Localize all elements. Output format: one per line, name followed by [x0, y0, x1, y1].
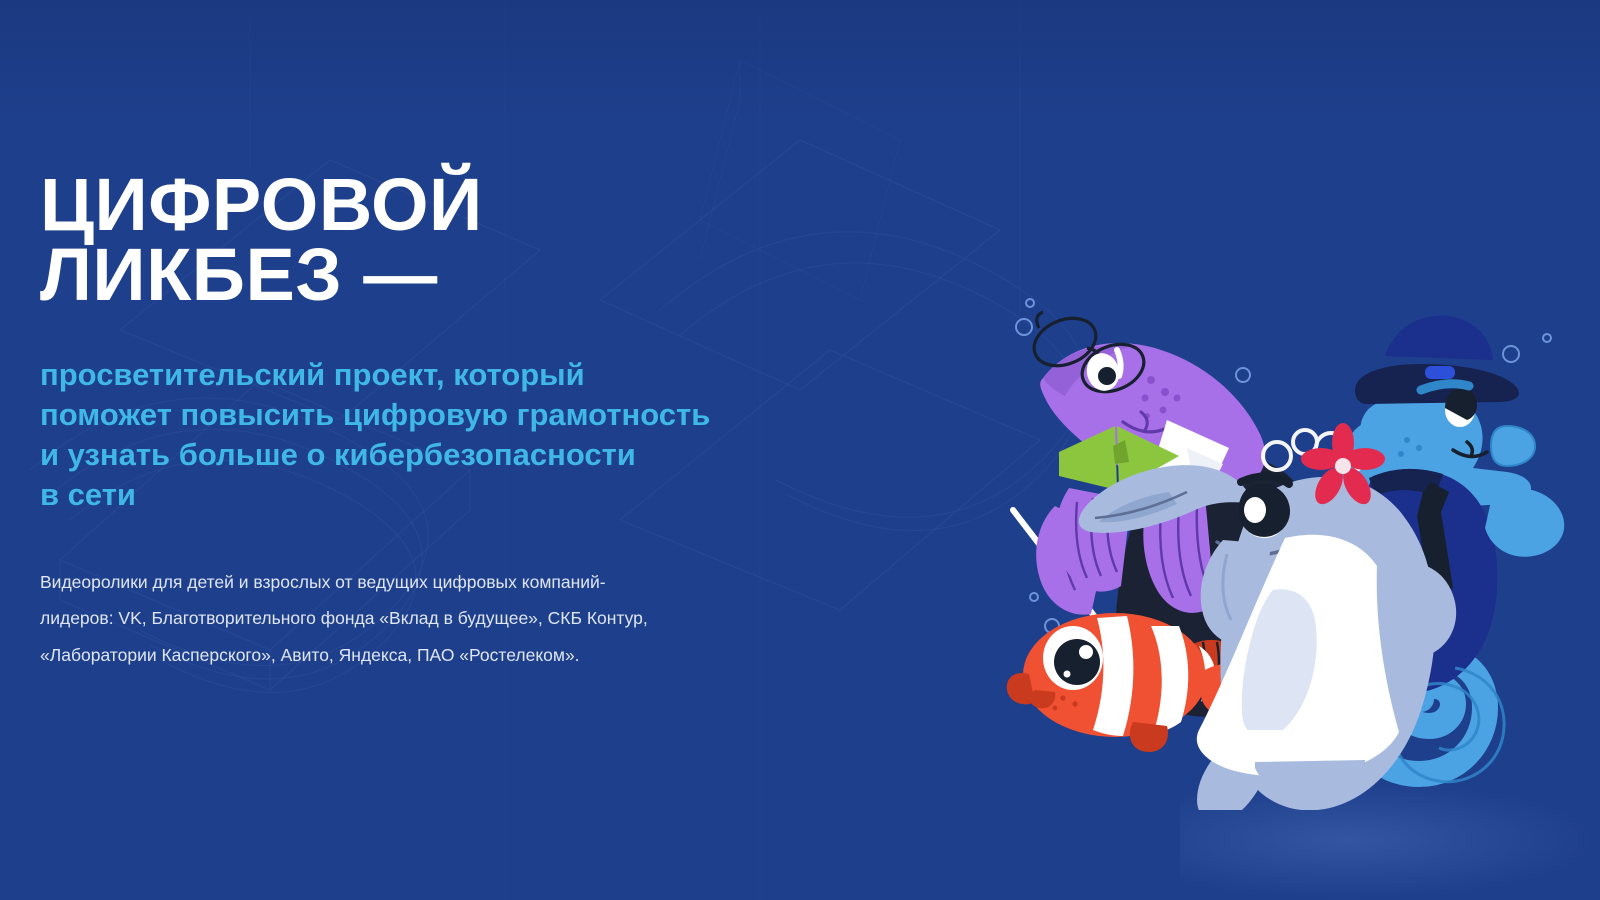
hero-subtitle: просветительский проект, который поможет… — [40, 355, 900, 516]
hero-description: Видеоролики для детей и взрослых от веду… — [40, 564, 900, 673]
hero-copy: ЦИФРОВОЙ ЛИКБЕЗ — просветительский проек… — [40, 170, 900, 673]
underwater-characters-illustration — [955, 270, 1600, 810]
top-fade-overlay — [0, 0, 1600, 120]
page-title: ЦИФРОВОЙ ЛИКБЕЗ — — [40, 170, 900, 311]
hero-banner: ЦИФРОВОЙ ЛИКБЕЗ — просветительский проек… — [0, 0, 1600, 900]
